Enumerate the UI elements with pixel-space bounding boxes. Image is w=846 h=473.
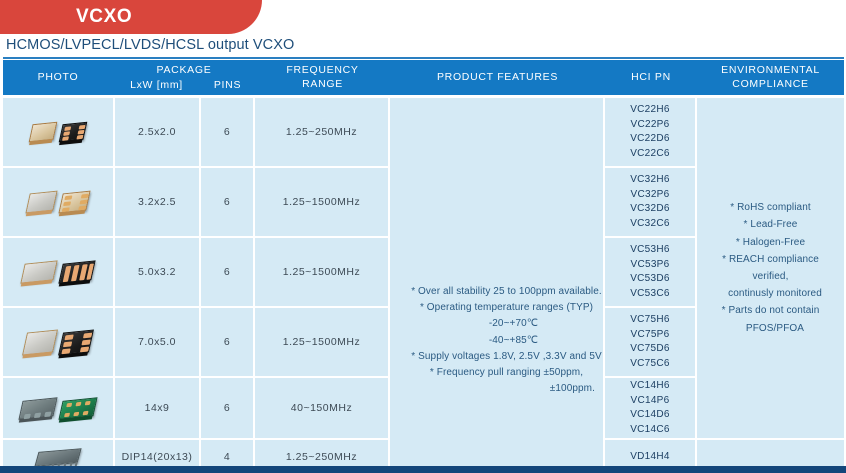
column-header-hci-pn: HCI PN	[605, 71, 697, 85]
pn-value: VC53P6	[630, 258, 669, 273]
package-photo-14x9-top	[18, 397, 57, 419]
hci-pn-cell-row-1: VC22H6 VC22P6 VC22D6 VC22C6	[605, 98, 695, 166]
package-photo-3p2x2p5-bottom	[58, 191, 90, 214]
pn-value: VC32D6	[630, 202, 670, 217]
photo-cell-row-1	[3, 98, 113, 166]
product-features-cell: * Over all stability 25 to 100ppm availa…	[390, 98, 603, 473]
package-photo-dip14	[34, 448, 81, 467]
hci-pn-cell-row-5: VC14H6 VC14P6 VC14D6 VC14C6	[605, 378, 695, 438]
frequency-cell-row-5: 40~150MHz	[255, 378, 388, 438]
pn-value: VC22C6	[630, 147, 670, 162]
feature-line-6: * Frequency pull ranging ±50ppm,	[404, 365, 603, 381]
column-header-lxw: LxW [mm]	[113, 79, 200, 93]
header-divider	[3, 57, 844, 59]
feature-line-3: -20~+70℃	[404, 316, 603, 332]
pn-value: VC75D6	[630, 342, 670, 357]
product-features-list: * Over all stability 25 to 100ppm availa…	[404, 284, 603, 397]
hci-pn-cell-row-3: VC53H6 VC53P6 VC53D6 VC53C6	[605, 238, 695, 306]
column-header-product-features: PRODUCT FEATURES	[390, 71, 605, 85]
package-photo-5p0x3p2-bottom	[58, 260, 95, 283]
hci-pn-cell-row-2: VC32H6 VC32P6 VC32D6 VC32C6	[605, 168, 695, 236]
feature-line-7: ±100ppm.	[404, 381, 603, 397]
table-header-row: PHOTO PACKAGE LxW [mm] PINS FREQUENCY RA…	[3, 60, 844, 95]
package-photo-5p0x3p2-top	[20, 260, 57, 283]
package-photo-3p2x2p5-top	[25, 191, 57, 214]
feature-line-5: * Supply voltages 1.8V, 2.5V ,3.3V and 5…	[404, 349, 603, 365]
pn-value: VC53D6	[630, 272, 670, 287]
package-photo-14x9-pcb	[58, 397, 97, 419]
column-header-frequency-line1: FREQUENCY	[255, 64, 390, 78]
pn-value: VC32P6	[630, 188, 669, 203]
pins-cell-row-1: 6	[201, 98, 253, 166]
specification-table: PHOTO PACKAGE LxW [mm] PINS FREQUENCY RA…	[3, 60, 844, 466]
column-header-frequency: FREQUENCY RANGE	[255, 64, 390, 92]
pn-value: VC75H6	[630, 313, 670, 328]
column-header-frequency-line2: RANGE	[255, 78, 390, 92]
env-line-6: * Parts do not contain	[709, 302, 832, 319]
photo-cell-row-3	[3, 238, 113, 306]
pn-value: VC53C6	[630, 287, 670, 302]
env-line-4: * REACH compliance verified,	[709, 251, 832, 285]
feature-line-1: * Over all stability 25 to 100ppm availa…	[404, 284, 603, 300]
package-photo-7p0x5p0-top	[22, 329, 58, 355]
package-cell-row-4: 7.0x5.0	[115, 308, 199, 376]
frequency-cell-row-2: 1.25~1500MHz	[255, 168, 388, 236]
frequency-cell-row-3: 1.25~1500MHz	[255, 238, 388, 306]
package-photo-7p0x5p0-bottom	[58, 329, 94, 355]
package-cell-row-5: 14x9	[115, 378, 199, 438]
environmental-list-top: * RoHS compliant * Lead-Free * Halogen-F…	[697, 199, 844, 337]
column-header-environmental-compliance: ENVIRONMENTAL COMPLIANCE	[697, 64, 844, 92]
env-line-3: * Halogen-Free	[709, 234, 832, 251]
pn-value: VC22P6	[630, 118, 669, 133]
pn-value: VC14P6	[630, 394, 669, 409]
environmental-compliance-cell-top: * RoHS compliant * Lead-Free * Halogen-F…	[697, 98, 844, 438]
package-cell-row-2: 3.2x2.5	[115, 168, 199, 236]
env-line-7: PFOS/PFOA	[709, 320, 832, 337]
env-line-1: * RoHS compliant	[709, 199, 832, 216]
pn-value: VC14D6	[630, 408, 670, 423]
page-bottom-bar	[0, 466, 846, 473]
env-line-5: continusly monitored	[709, 285, 832, 302]
package-photo-2p5x2p0-top	[29, 122, 58, 142]
pn-value: VC32H6	[630, 173, 670, 188]
feature-line-2: * Operating temperature ranges (TYP)	[404, 300, 603, 316]
column-header-pins: PINS	[200, 79, 255, 93]
feature-line-4: -40~+85℃	[404, 333, 603, 349]
package-cell-row-1: 2.5x2.0	[115, 98, 199, 166]
pn-value: VC14C6	[630, 423, 670, 438]
pins-cell-row-2: 6	[201, 168, 253, 236]
pn-value: VC14H6	[630, 379, 670, 394]
frequency-cell-row-4: 1.25~1500MHz	[255, 308, 388, 376]
photo-cell-row-5	[3, 378, 113, 438]
pn-value: VD14H4	[630, 450, 670, 465]
page-subtitle: HCMOS/LVPECL/LVDS/HCSL output VCXO	[6, 37, 294, 53]
column-header-environmental-line1: ENVIRONMENTAL	[697, 64, 844, 78]
pn-value: VC22D6	[630, 132, 670, 147]
package-photo-2p5x2p0-bottom	[59, 122, 88, 142]
hci-pn-cell-row-4: VC75H6 VC75P6 VC75D6 VC75C6	[605, 308, 695, 376]
column-header-photo: PHOTO	[3, 71, 113, 85]
pn-value: VC75C6	[630, 357, 670, 372]
page-title: VCXO	[0, 0, 262, 34]
pn-value: VC22H6	[630, 103, 670, 118]
vcxo-product-table-page: VCXO HCMOS/LVPECL/LVDS/HCSL output VCXO …	[0, 0, 846, 473]
pn-value: VC32C6	[630, 217, 670, 232]
photo-cell-row-4	[3, 308, 113, 376]
photo-cell-row-2	[3, 168, 113, 236]
pins-cell-row-4: 6	[201, 308, 253, 376]
frequency-cell-row-1: 1.25~250MHz	[255, 98, 388, 166]
column-header-package: PACKAGE	[113, 64, 255, 78]
pn-value: VC75P6	[630, 328, 669, 343]
pn-value: VC53H6	[630, 243, 670, 258]
package-cell-row-3: 5.0x3.2	[115, 238, 199, 306]
page-banner: VCXO	[0, 0, 262, 34]
pins-cell-row-5: 6	[201, 378, 253, 438]
column-header-environmental-line2: COMPLIANCE	[697, 78, 844, 92]
env-line-2: * Lead-Free	[709, 216, 832, 233]
pins-cell-row-3: 6	[201, 238, 253, 306]
